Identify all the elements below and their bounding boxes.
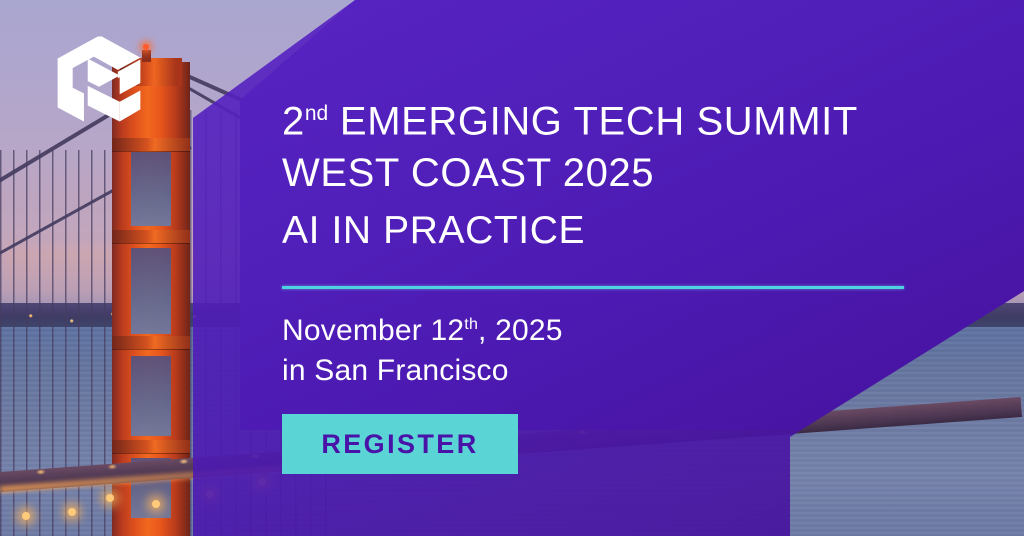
event-subheadline: AI IN PRACTICE bbox=[282, 207, 585, 255]
banner-content: 2nd EMERGING TECH SUMMIT WEST COAST 2025… bbox=[282, 0, 982, 536]
register-button[interactable]: REGISTER bbox=[282, 414, 518, 474]
tower-opening bbox=[131, 356, 171, 436]
event-location: in San Francisco bbox=[282, 351, 563, 391]
lamp-light bbox=[22, 512, 30, 520]
headline-line2: WEST COAST 2025 bbox=[282, 147, 858, 199]
event-banner: 2nd EMERGING TECH SUMMIT WEST COAST 2025… bbox=[0, 0, 1024, 536]
tower-opening bbox=[131, 152, 171, 226]
event-date-suffix: th bbox=[464, 316, 478, 333]
lamp-light bbox=[68, 508, 76, 516]
event-date-year: , 2025 bbox=[478, 314, 563, 347]
tower-opening bbox=[131, 248, 171, 334]
tower-crossbeam bbox=[112, 336, 190, 349]
tower-crossbeam bbox=[112, 440, 190, 453]
tower-crossbeam bbox=[112, 230, 190, 243]
headline-line1: EMERGING TECH SUMMIT bbox=[328, 99, 858, 143]
event-headline: 2nd EMERGING TECH SUMMIT WEST COAST 2025 bbox=[282, 88, 858, 199]
hexagon-b-logo-icon bbox=[52, 34, 146, 132]
section-divider bbox=[282, 286, 904, 289]
headline-ordinal-suffix: nd bbox=[305, 102, 328, 125]
lamp-light bbox=[106, 494, 114, 502]
event-date-prefix: November 12 bbox=[282, 314, 464, 347]
headline-ordinal-number: 2 bbox=[282, 99, 305, 143]
tower-crossbeam bbox=[112, 138, 190, 151]
lamp-light bbox=[152, 500, 160, 508]
event-details: November 12th, 2025 in San Francisco bbox=[282, 305, 563, 391]
